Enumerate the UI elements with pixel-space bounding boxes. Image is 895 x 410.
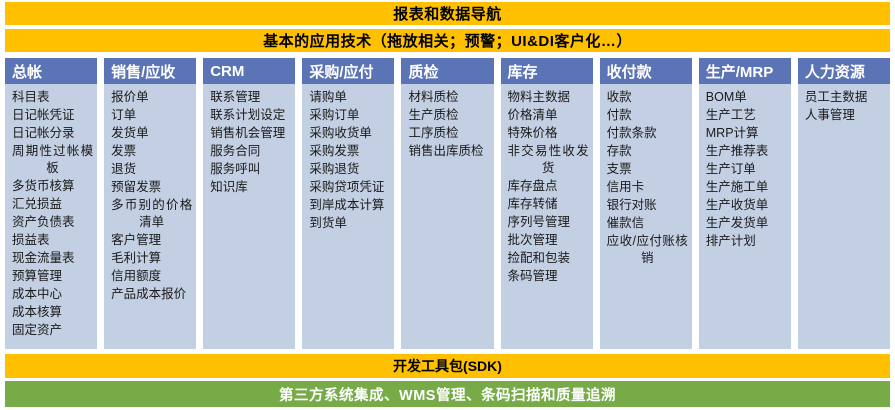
- module-item[interactable]: 付款条款: [607, 125, 688, 142]
- module-item[interactable]: 序列号管理: [508, 214, 589, 231]
- module-item[interactable]: 服务呼叫: [210, 161, 291, 178]
- module-item[interactable]: 生产工艺: [706, 107, 787, 124]
- module-item[interactable]: 生产质检: [408, 107, 489, 124]
- module-column: 收付款收款付款付款条款存款支票信用卡银行对账催款信应收/应付账核销: [600, 58, 692, 349]
- footer-integration-bar: 第三方系统集成、WMS管理、条码扫描和质量追溯: [5, 381, 890, 407]
- module-item[interactable]: BOM单: [706, 89, 787, 106]
- module-item[interactable]: 人事管理: [805, 107, 886, 124]
- module-item[interactable]: 捡配和包装: [508, 250, 589, 267]
- module-item[interactable]: 到岸成本计算: [309, 197, 390, 214]
- module-item[interactable]: 付款: [607, 107, 688, 124]
- module-column-body: 报价单订单发货单发票退货预留发票多币别的价格清单客户管理毛利计算信用额度产品成本…: [104, 84, 196, 349]
- navigation-diagram: 报表和数据导航 基本的应用技术（拖放相关；预警；UI&DI客户化…） 总帐科目表…: [0, 0, 895, 410]
- module-item[interactable]: 库存盘点: [508, 178, 589, 195]
- module-item[interactable]: 固定资产: [12, 322, 93, 339]
- module-item[interactable]: 科目表: [12, 89, 93, 106]
- module-column-body: 员工主数据人事管理: [798, 84, 890, 349]
- module-column-header[interactable]: 库存: [501, 58, 593, 84]
- module-item[interactable]: 采购订单: [309, 107, 390, 124]
- module-item[interactable]: 生产发货单: [706, 215, 787, 232]
- module-item[interactable]: 销售出库质检: [408, 143, 489, 160]
- module-item[interactable]: 到货单: [309, 215, 390, 232]
- module-item[interactable]: 损益表: [12, 232, 93, 249]
- module-item[interactable]: 知识库: [210, 179, 291, 196]
- module-item[interactable]: 特殊价格: [508, 125, 589, 142]
- module-item[interactable]: 请购单: [309, 89, 390, 106]
- module-item[interactable]: 客户管理: [111, 232, 192, 249]
- module-item[interactable]: 多货币核算: [12, 178, 93, 195]
- module-column-header[interactable]: CRM: [203, 58, 295, 84]
- module-item[interactable]: 联系计划设定: [210, 107, 291, 124]
- module-item[interactable]: 信用卡: [607, 179, 688, 196]
- module-item[interactable]: 生产订单: [706, 161, 787, 178]
- module-item[interactable]: 信用额度: [111, 268, 192, 285]
- module-column-body: BOM单生产工艺MRP计算生产推荐表生产订单生产施工单生产收货单生产发货单排产计…: [699, 84, 791, 349]
- module-column: 质检材料质检生产质检工序质检销售出库质检: [401, 58, 493, 349]
- module-item[interactable]: 支票: [607, 161, 688, 178]
- module-item[interactable]: 报价单: [111, 89, 192, 106]
- module-item[interactable]: 服务合同: [210, 143, 291, 160]
- module-item[interactable]: 预算管理: [12, 268, 93, 285]
- module-item[interactable]: 发票: [111, 143, 192, 160]
- module-item[interactable]: 排产计划: [706, 233, 787, 250]
- module-column-header[interactable]: 生产/MRP: [699, 58, 791, 84]
- module-item[interactable]: 订单: [111, 107, 192, 124]
- module-item[interactable]: 生产施工单: [706, 179, 787, 196]
- module-item[interactable]: 联系管理: [210, 89, 291, 106]
- module-item[interactable]: 生产推荐表: [706, 143, 787, 160]
- module-item[interactable]: MRP计算: [706, 125, 787, 142]
- module-item[interactable]: 退货: [111, 161, 192, 178]
- module-column: 生产/MRPBOM单生产工艺MRP计算生产推荐表生产订单生产施工单生产收货单生产…: [699, 58, 791, 349]
- module-column-header[interactable]: 人力资源: [798, 58, 890, 84]
- module-item[interactable]: 成本核算: [12, 304, 93, 321]
- module-item[interactable]: 价格清单: [508, 107, 589, 124]
- module-column-body: 收款付款付款条款存款支票信用卡银行对账催款信应收/应付账核销: [600, 84, 692, 349]
- module-item[interactable]: 成本中心: [12, 286, 93, 303]
- module-columns: 总帐科目表日记帐凭证日记帐分录周期性过帐模板多货币核算汇兑损益资产负债表损益表现…: [5, 58, 890, 349]
- module-item[interactable]: 批次管理: [508, 232, 589, 249]
- module-item[interactable]: 采购退货: [309, 161, 390, 178]
- module-item[interactable]: 发货单: [111, 125, 192, 142]
- module-item[interactable]: 资产负债表: [12, 214, 93, 231]
- module-item[interactable]: 生产收货单: [706, 197, 787, 214]
- module-column-header[interactable]: 收付款: [600, 58, 692, 84]
- module-item[interactable]: 日记帐分录: [12, 125, 93, 142]
- module-item[interactable]: 汇兑损益: [12, 196, 93, 213]
- banner-subtitle: 基本的应用技术（拖放相关；预警；UI&DI客户化…）: [5, 29, 890, 52]
- module-column-body: 请购单采购订单采购收货单采购发票采购退货采购贷项凭证到岸成本计算到货单: [302, 84, 394, 349]
- module-item[interactable]: 银行对账: [607, 197, 688, 214]
- module-item[interactable]: 员工主数据: [805, 89, 886, 106]
- module-item[interactable]: 采购收货单: [309, 125, 390, 142]
- module-column-body: 材料质检生产质检工序质检销售出库质检: [401, 84, 493, 349]
- footer-sdk-bar: 开发工具包(SDK): [5, 354, 890, 378]
- module-item[interactable]: 采购发票: [309, 143, 390, 160]
- module-column: CRM联系管理联系计划设定销售机会管理服务合同服务呼叫知识库: [203, 58, 295, 349]
- module-item[interactable]: 销售机会管理: [210, 125, 291, 142]
- module-item[interactable]: 库存转储: [508, 196, 589, 213]
- module-column: 销售/应收报价单订单发货单发票退货预留发票多币别的价格清单客户管理毛利计算信用额…: [104, 58, 196, 349]
- module-item[interactable]: 催款信: [607, 215, 688, 232]
- module-column: 人力资源员工主数据人事管理: [798, 58, 890, 349]
- module-item[interactable]: 材料质检: [408, 89, 489, 106]
- module-item[interactable]: 周期性过帐模板: [12, 143, 93, 177]
- module-column: 采购/应付请购单采购订单采购收货单采购发票采购退货采购贷项凭证到岸成本计算到货单: [302, 58, 394, 349]
- module-column-header[interactable]: 销售/应收: [104, 58, 196, 84]
- module-item[interactable]: 产品成本报价: [111, 286, 192, 303]
- module-column-body: 联系管理联系计划设定销售机会管理服务合同服务呼叫知识库: [203, 84, 295, 349]
- module-column-body: 科目表日记帐凭证日记帐分录周期性过帐模板多货币核算汇兑损益资产负债表损益表现金流…: [5, 84, 97, 349]
- module-item[interactable]: 采购贷项凭证: [309, 179, 390, 196]
- module-item[interactable]: 条码管理: [508, 268, 589, 285]
- module-column: 总帐科目表日记帐凭证日记帐分录周期性过帐模板多货币核算汇兑损益资产负债表损益表现…: [5, 58, 97, 349]
- module-item[interactable]: 物料主数据: [508, 89, 589, 106]
- module-column-header[interactable]: 总帐: [5, 58, 97, 84]
- module-column: 库存物料主数据价格清单特殊价格非交易性收发货库存盘点库存转储序列号管理批次管理捡…: [501, 58, 593, 349]
- module-column-header[interactable]: 质检: [401, 58, 493, 84]
- module-item[interactable]: 应收/应付账核销: [607, 233, 688, 267]
- module-item[interactable]: 非交易性收发货: [508, 143, 589, 177]
- banner-title: 报表和数据导航: [5, 2, 890, 25]
- module-item[interactable]: 预留发票: [111, 179, 192, 196]
- module-item[interactable]: 存款: [607, 143, 688, 160]
- module-item[interactable]: 收款: [607, 89, 688, 106]
- module-column-body: 物料主数据价格清单特殊价格非交易性收发货库存盘点库存转储序列号管理批次管理捡配和…: [501, 84, 593, 349]
- module-item[interactable]: 多币别的价格清单: [111, 197, 192, 231]
- module-column-header[interactable]: 采购/应付: [302, 58, 394, 84]
- module-item[interactable]: 毛利计算: [111, 250, 192, 267]
- module-item[interactable]: 现金流量表: [12, 250, 93, 267]
- module-item[interactable]: 工序质检: [408, 125, 489, 142]
- module-item[interactable]: 日记帐凭证: [12, 107, 93, 124]
